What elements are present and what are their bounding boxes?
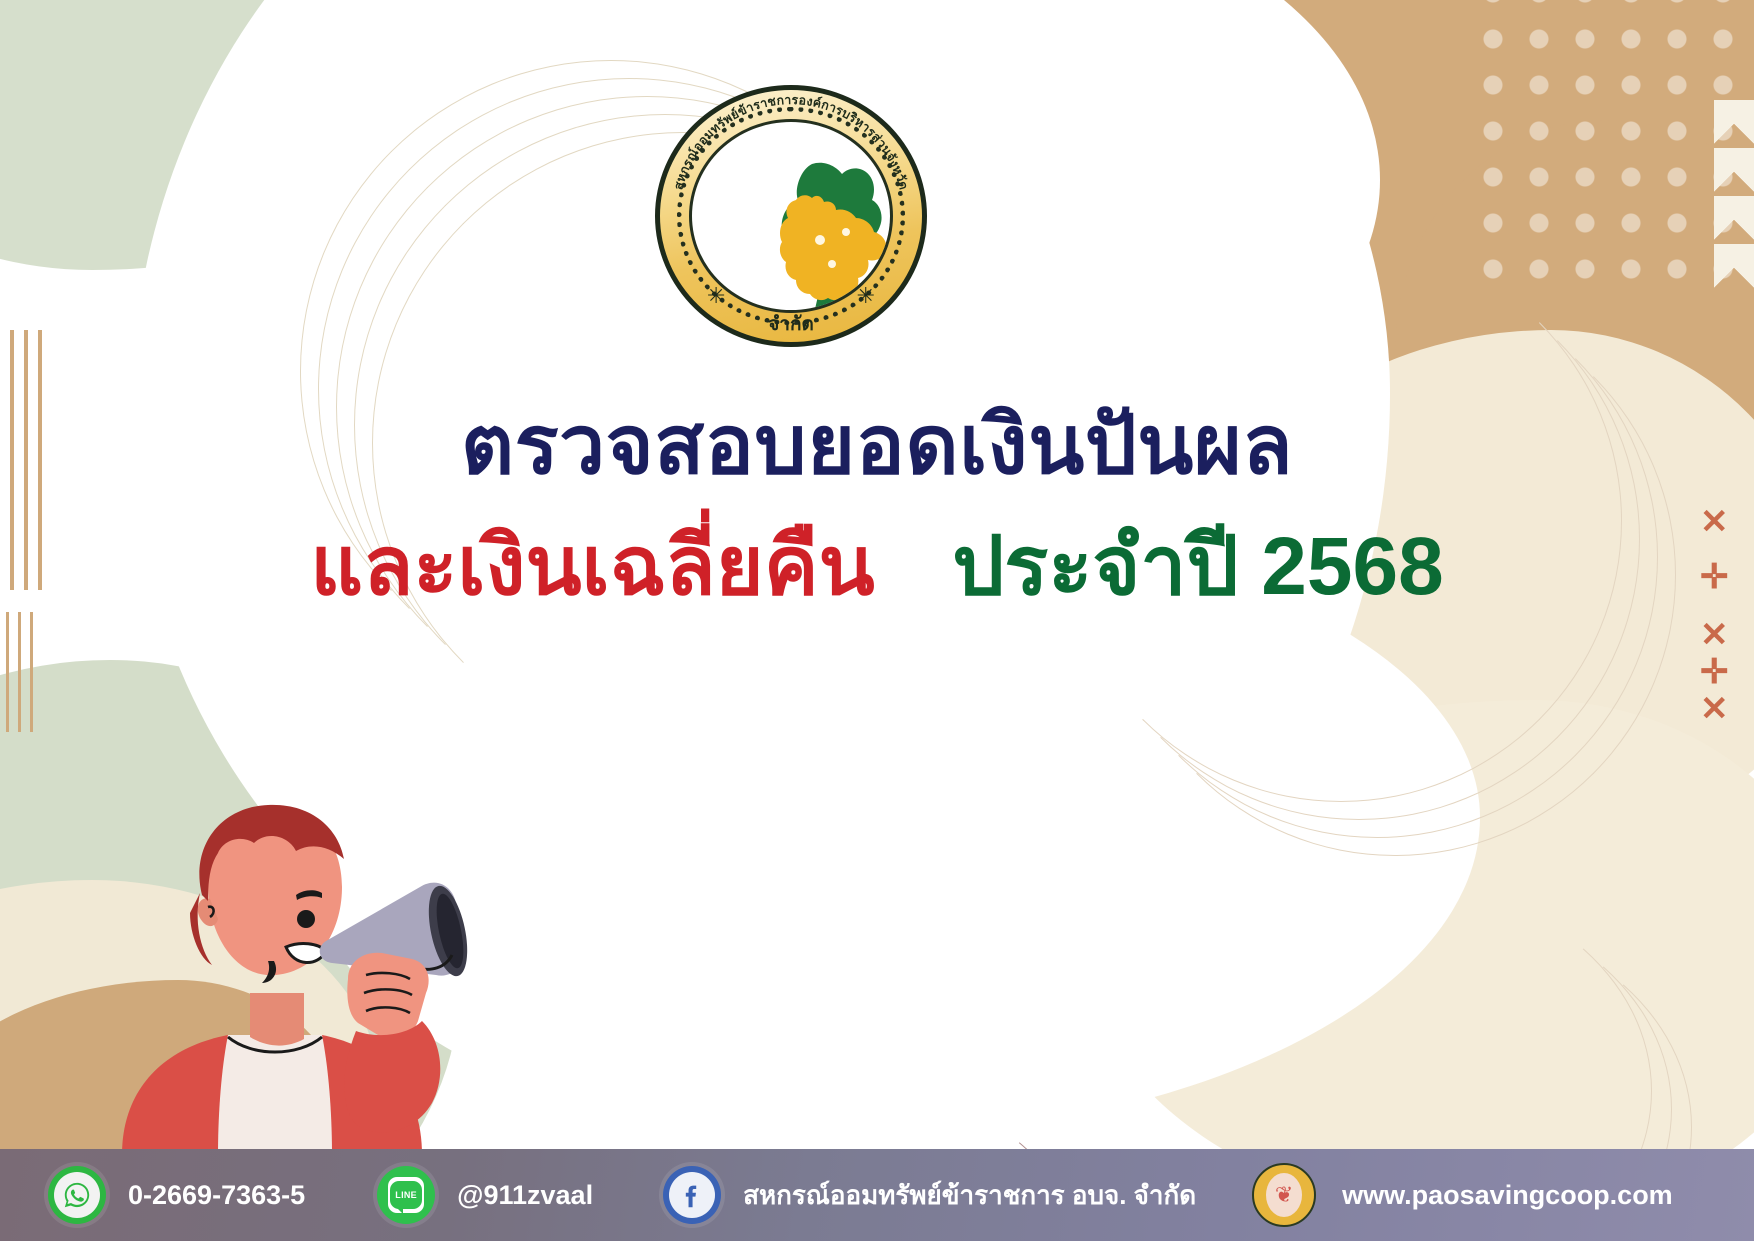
headline-block: ตรวจสอบยอดเงินปันผล และเงินเฉลี่ยคืน ประ… <box>0 398 1754 616</box>
facebook-page-label: สหกรณ์ออมทรัพย์ข้าราชการ อบจ. จำกัด <box>743 1175 1196 1216</box>
facebook-icon[interactable] <box>663 1166 721 1224</box>
logo-arc-text-label: สหกรณ์ออมทรัพย์ข้าราชการองค์การบริหารส่ว… <box>671 93 910 191</box>
cooperative-logo: สหกรณ์ออมทรัพย์ข้าราชการองค์การบริหารส่ว… <box>655 85 927 347</box>
logo-bottom-label: จำกัด <box>655 309 927 339</box>
headline-line-1: ตรวจสอบยอดเงินปันผล <box>0 398 1754 495</box>
footer-item-facebook[interactable]: สหกรณ์ออมทรัพย์ข้าราชการ อบจ. จำกัด <box>663 1166 1196 1224</box>
zigzag-edge-right <box>1714 100 1754 290</box>
footer-item-website[interactable]: ❦ www.paosavingcoop.com <box>1252 1163 1673 1227</box>
line-icon-inner: LINE <box>388 1177 424 1213</box>
stripe-group-left-lower <box>6 612 40 732</box>
line-id-label: @911zvaal <box>457 1180 593 1211</box>
line-glyph: LINE <box>390 1181 422 1209</box>
whatsapp-glyph <box>62 1180 92 1210</box>
whatsapp-icon[interactable] <box>48 1166 106 1224</box>
logo-star-left: ✳ <box>707 283 725 309</box>
logo-star-right: ✳ <box>857 283 875 309</box>
phone-number-label: 0-2669-7363-5 <box>128 1180 305 1211</box>
tan-blob-top-right <box>1136 0 1754 426</box>
decor-x-mark-2: ✕ <box>1700 618 1729 652</box>
person-with-megaphone-illustration <box>60 735 480 1155</box>
whatsapp-icon-inner <box>54 1172 100 1218</box>
headline-line-2-red: และเงินเฉลี่ยคืน <box>310 521 874 612</box>
decor-plus-mark-2: ✛ <box>1700 655 1729 689</box>
contact-footer-bar: 0-2669-7363-5 LINE @911zvaal สหกรณ์ออมทร… <box>0 1149 1754 1241</box>
headline-line-2-green: ประจำปี 2568 <box>952 521 1443 612</box>
facebook-glyph <box>677 1180 707 1210</box>
coop-logo-icon: ❦ <box>1252 1163 1316 1227</box>
decor-x-mark-3: ✕ <box>1700 692 1729 726</box>
headline-line-2: และเงินเฉลี่ยคืน ประจำปี 2568 <box>0 519 1754 616</box>
poster-canvas: ✕ ✛ ✕ ✛ ✕ สหกรณ์ออมทรัพย์ข้าราชการองค์กา… <box>0 0 1754 1241</box>
logo-arc-text: สหกรณ์ออมทรัพย์ข้าราชการองค์การบริหารส่ว… <box>655 85 927 347</box>
line-icon[interactable]: LINE <box>377 1166 435 1224</box>
facebook-icon-inner <box>669 1172 715 1218</box>
footer-item-phone[interactable]: 0-2669-7363-5 <box>48 1166 305 1224</box>
sage-blob-top-left <box>0 0 500 270</box>
website-url-label: www.paosavingcoop.com <box>1342 1180 1673 1211</box>
coop-logo-center: ❦ <box>1266 1173 1302 1217</box>
cream-blob-bottom-right <box>1080 700 1754 1220</box>
footer-item-line[interactable]: LINE @911zvaal <box>377 1166 593 1224</box>
halftone-dots-top-right <box>1470 0 1754 300</box>
